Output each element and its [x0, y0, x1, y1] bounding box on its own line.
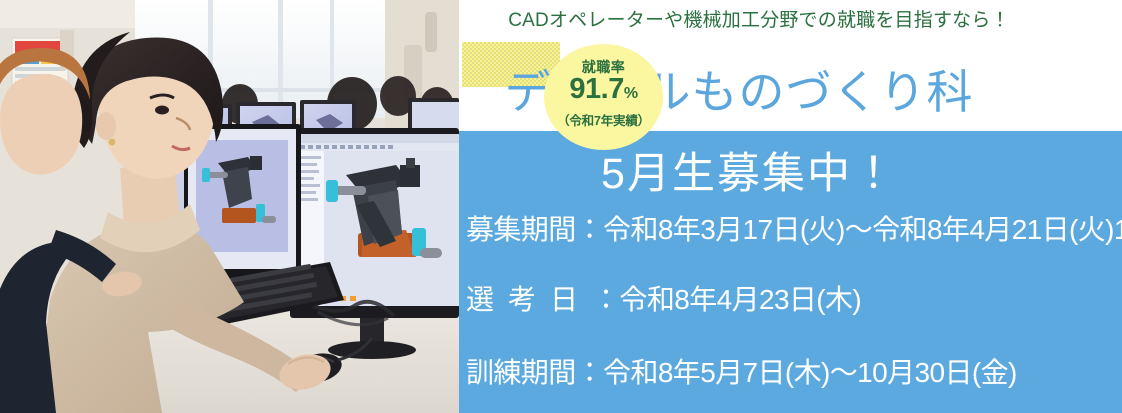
- info-separator: ：: [576, 357, 603, 388]
- info-row-application-period: 募集期間：令和8年3月17日(火)～令和8年4月21日(火)12時: [466, 208, 1122, 248]
- info-row-selection-date: 選考日：令和8年4月23日(木): [466, 278, 861, 318]
- info-label: 選考日: [466, 284, 592, 315]
- recruitment-banner: CADオペレーターや機械加工分野での就職を目指すなら！ デジタルものづくり科 就…: [0, 0, 1122, 413]
- percent-sign: %: [624, 85, 638, 102]
- classroom-photo-illustration: [0, 0, 459, 413]
- page-title: デジタルものづくり科: [459, 67, 1019, 119]
- employment-rate-value: 91.7%: [544, 75, 663, 104]
- recruitment-info-block: 5月生募集中！ 募集期間：令和8年3月17日(火)～令和8年4月21日(火)12…: [459, 131, 1122, 413]
- info-value: 令和8年4月23日(木): [619, 284, 861, 315]
- employment-rate-note: （令和7年実績）: [544, 110, 663, 129]
- employment-rate-number: 91.7: [569, 73, 623, 105]
- info-separator: ：: [592, 284, 619, 315]
- classroom-photo: [0, 0, 459, 413]
- tagline: CADオペレーターや機械加工分野での就職を目指すなら！: [459, 5, 1059, 32]
- employment-rate-badge: 就職率 91.7% （令和7年実績）: [544, 44, 663, 150]
- info-value: 令和8年3月17日(火)～令和8年4月21日(火)12時: [603, 214, 1122, 245]
- info-label: 訓練期間: [466, 357, 576, 388]
- info-label: 募集期間: [466, 214, 576, 245]
- info-row-training-period: 訓練期間：令和8年5月7日(木)～10月30日(金): [466, 351, 1017, 391]
- recruitment-headline: 5月生募集中！: [459, 139, 1039, 201]
- info-separator: ：: [576, 214, 603, 245]
- info-value: 令和8年5月7日(木)～10月30日(金): [603, 357, 1017, 388]
